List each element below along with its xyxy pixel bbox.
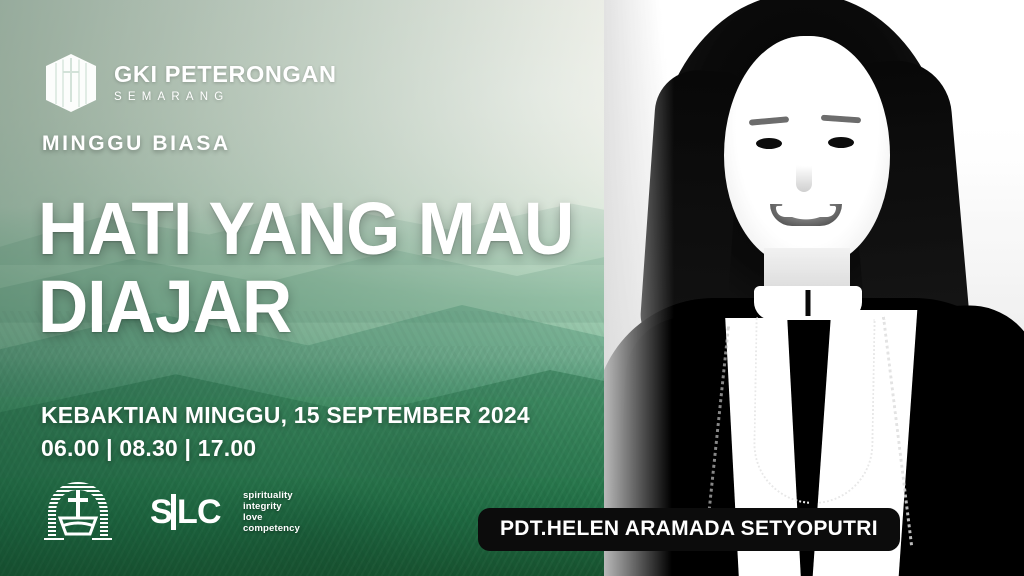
portrait-clerical-collar bbox=[754, 286, 862, 320]
svg-text:S: S bbox=[150, 493, 173, 531]
speaker-portrait-photo bbox=[604, 0, 1024, 576]
portrait-eye-right bbox=[828, 137, 854, 148]
silc-value-competency: competency bbox=[243, 523, 300, 534]
silc-values-list: spirituality integrity love competency bbox=[243, 490, 300, 535]
portrait-eye-left bbox=[756, 138, 782, 149]
portrait-necklace-chain-icon bbox=[752, 317, 875, 505]
service-details: KEBAKTIAN MINGGU, 15 SEPTEMBER 2024 06.0… bbox=[41, 402, 530, 462]
service-times: 06.00 | 08.30 | 17.00 bbox=[41, 435, 530, 462]
speaker-name: PDT.HELEN ARAMADA SETYOPUTRI bbox=[500, 517, 878, 541]
portrait-smile bbox=[770, 204, 842, 226]
silc-value-integrity: integrity bbox=[243, 501, 300, 512]
title-line-1: HATI YANG MAU bbox=[38, 196, 573, 263]
church-building-cross-icon bbox=[42, 52, 100, 114]
gki-arch-cross-boat-seal-icon bbox=[40, 478, 116, 546]
brand-name: GKI PETERONGAN bbox=[114, 63, 337, 87]
silc-value-spirituality: spirituality bbox=[243, 490, 300, 501]
silc-value-love: love bbox=[243, 512, 300, 523]
silc-wordmark-icon: S L C bbox=[150, 492, 234, 532]
page-title: HATI YANG MAU DIAJAR bbox=[38, 196, 573, 340]
brand-logo-text: GKI PETERONGAN SEMARANG bbox=[114, 63, 337, 104]
brand-city: SEMARANG bbox=[114, 92, 337, 104]
liturgical-season-kicker: MINGGU BIASA bbox=[42, 132, 231, 156]
svg-text:C: C bbox=[197, 493, 222, 531]
portrait-teeth bbox=[776, 206, 836, 217]
title-line-2: DIAJAR bbox=[38, 274, 573, 341]
portrait-nose bbox=[796, 158, 812, 192]
svg-text:L: L bbox=[177, 493, 198, 531]
brand-logo: GKI PETERONGAN SEMARANG bbox=[42, 52, 337, 114]
portrait-face bbox=[724, 36, 890, 266]
sermon-announcement-poster: GKI PETERONGAN SEMARANG MINGGU BIASA HAT… bbox=[0, 0, 1024, 576]
footer-logos: S L C spirituality integrity love compet… bbox=[40, 478, 300, 546]
service-date: KEBAKTIAN MINGGU, 15 SEPTEMBER 2024 bbox=[41, 402, 530, 429]
silc-logo: S L C spirituality integrity love compet… bbox=[150, 490, 300, 535]
speaker-name-banner: PDT.HELEN ARAMADA SETYOPUTRI bbox=[478, 508, 900, 551]
